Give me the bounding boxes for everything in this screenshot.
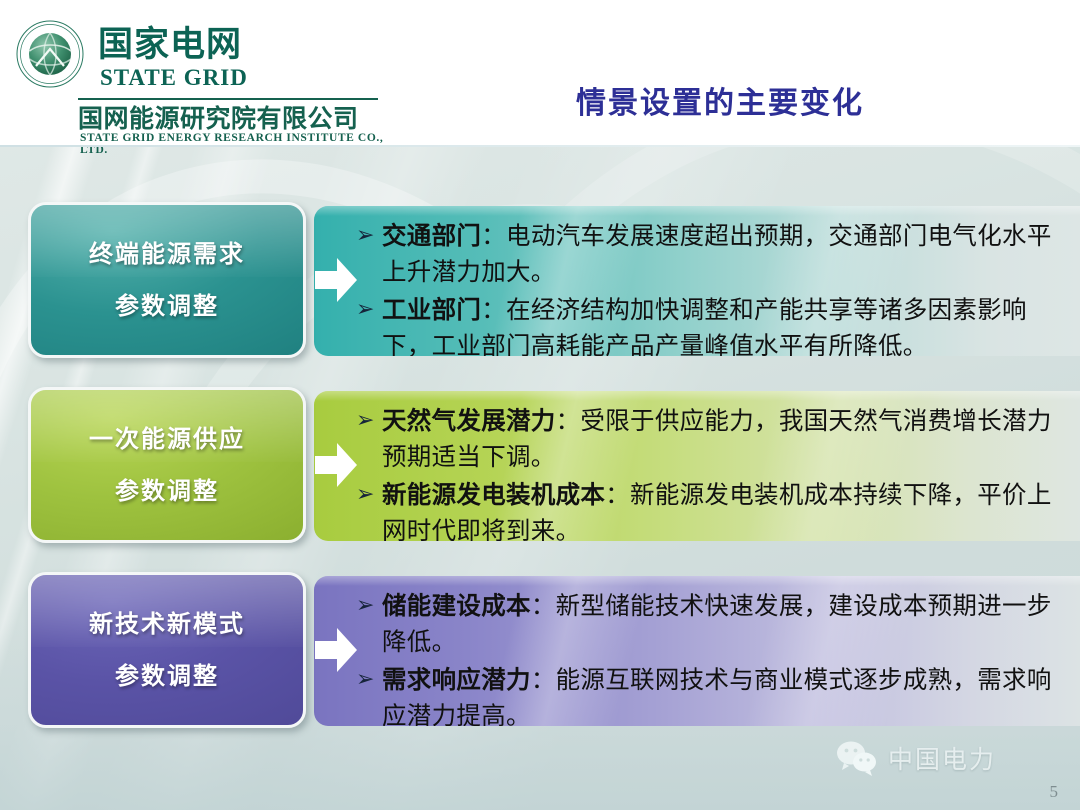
panel-highlight: [314, 391, 1080, 401]
bullet-separator: ：: [531, 591, 556, 620]
row-primary-energy-supply: ➢ 天然气发展潜力：受限于供应能力，我国天然气消费增长潜力预期适当下调。 ➢ 新…: [0, 387, 1080, 547]
bullet-separator: ：: [556, 406, 581, 435]
category-label-new-tech-new-model[interactable]: 新技术新模式 参数调整: [28, 572, 306, 728]
brand-divider: [78, 98, 378, 100]
arrow-bullet-icon: ➢: [356, 662, 382, 698]
category-label-line2: 参数调整: [115, 294, 219, 318]
page-title: 情景设置的主要变化: [380, 78, 1060, 122]
wechat-icon: [835, 740, 879, 776]
bullet-list: ➢ 交通部门：电动汽车发展速度超出预期，交通部门电气化水平上升潜力加大。 ➢ 工…: [356, 218, 1074, 350]
bullet-list: ➢ 天然气发展潜力：受限于供应能力，我国天然气消费增长潜力预期适当下调。 ➢ 新…: [356, 403, 1074, 535]
page-number: 5: [1050, 782, 1059, 802]
state-grid-globe-emblem: [14, 18, 86, 90]
category-label-primary-energy-supply[interactable]: 一次能源供应 参数调整: [28, 387, 306, 543]
watermark-label: 中国电力: [888, 740, 996, 776]
arrow-bullet-icon: ➢: [356, 292, 382, 328]
right-arrow-icon: [313, 624, 359, 676]
bullet-lead: 储能建设成本: [382, 591, 531, 620]
bullet-text: 天然气发展潜力：受限于供应能力，我国天然气消费增长潜力预期适当下调。: [382, 403, 1074, 475]
detail-panel: ➢ 天然气发展潜力：受限于供应能力，我国天然气消费增长潜力预期适当下调。 ➢ 新…: [314, 391, 1080, 541]
arrow-bullet-icon: ➢: [356, 403, 382, 439]
list-item: ➢ 天然气发展潜力：受限于供应能力，我国天然气消费增长潜力预期适当下调。: [356, 403, 1074, 475]
bullet-text: 工业部门：在经济结构加快调整和产能共享等诸多因素影响下，工业部门高耗能产品产量峰…: [382, 292, 1074, 356]
bullet-separator: ：: [605, 480, 630, 509]
bullet-separator: ：: [531, 665, 556, 694]
arrow-bullet-icon: ➢: [356, 477, 382, 513]
bullet-text: 新能源发电装机成本：新能源发电装机成本持续下降，平价上网时代即将到来。: [382, 477, 1074, 541]
bullet-text: 储能建设成本：新型储能技术快速发展，建设成本预期进一步降低。: [382, 588, 1074, 660]
company-logo: 国家电网 STATE GRID 国网能源研究院有限公司 STATE GRID E…: [14, 14, 384, 134]
arrow-bullet-icon: ➢: [356, 218, 382, 254]
bullet-lead: 天然气发展潜力: [382, 406, 556, 435]
bullet-lead: 需求响应潜力: [382, 665, 531, 694]
detail-panel: ➢ 储能建设成本：新型储能技术快速发展，建设成本预期进一步降低。 ➢ 需求响应潜…: [314, 576, 1080, 726]
right-arrow-icon: [313, 439, 359, 491]
slide-header: 国家电网 STATE GRID 国网能源研究院有限公司 STATE GRID E…: [0, 0, 1080, 147]
bullet-separator: ：: [481, 221, 506, 250]
bullet-separator: ：: [481, 295, 506, 324]
category-label-line2: 参数调整: [115, 479, 219, 503]
right-arrow-icon: [313, 254, 359, 306]
detail-panel: ➢ 交通部门：电动汽车发展速度超出预期，交通部门电气化水平上升潜力加大。 ➢ 工…: [314, 206, 1080, 356]
row-new-tech-new-model: ➢ 储能建设成本：新型储能技术快速发展，建设成本预期进一步降低。 ➢ 需求响应潜…: [0, 572, 1080, 732]
brand-name-en: STATE GRID: [100, 66, 248, 89]
brand-name-cn: 国家电网: [98, 28, 242, 63]
list-item: ➢ 交通部门：电动汽车发展速度超出预期，交通部门电气化水平上升潜力加大。: [356, 218, 1074, 290]
list-item: ➢ 储能建设成本：新型储能技术快速发展，建设成本预期进一步降低。: [356, 588, 1074, 660]
bullet-lead: 新能源发电装机成本: [382, 480, 605, 509]
bullet-lead: 工业部门: [382, 295, 481, 324]
header-divider: [0, 145, 1080, 147]
content-rows: ➢ 交通部门：电动汽车发展速度超出预期，交通部门电气化水平上升潜力加大。 ➢ 工…: [0, 147, 1080, 810]
slide-canvas: 国家电网 STATE GRID 国网能源研究院有限公司 STATE GRID E…: [0, 0, 1080, 810]
category-label-line1: 一次能源供应: [89, 427, 245, 451]
list-item: ➢ 需求响应潜力：能源互联网技术与商业模式逐步成熟，需求响应潜力提高。: [356, 662, 1074, 726]
category-label-line1: 终端能源需求: [89, 242, 245, 266]
institute-name-cn: 国网能源研究院有限公司: [78, 105, 359, 134]
list-item: ➢ 新能源发电装机成本：新能源发电装机成本持续下降，平价上网时代即将到来。: [356, 477, 1074, 541]
panel-highlight: [314, 206, 1080, 216]
bullet-lead: 交通部门: [382, 221, 481, 250]
arrow-bullet-icon: ➢: [356, 588, 382, 624]
bullet-list: ➢ 储能建设成本：新型储能技术快速发展，建设成本预期进一步降低。 ➢ 需求响应潜…: [356, 588, 1074, 720]
bullet-text: 交通部门：电动汽车发展速度超出预期，交通部门电气化水平上升潜力加大。: [382, 218, 1074, 290]
panel-highlight: [314, 576, 1080, 586]
bullet-text: 需求响应潜力：能源互联网技术与商业模式逐步成熟，需求响应潜力提高。: [382, 662, 1074, 726]
category-label-line1: 新技术新模式: [89, 612, 245, 636]
category-label-end-use-energy-demand[interactable]: 终端能源需求 参数调整: [28, 202, 306, 358]
row-end-use-energy-demand: ➢ 交通部门：电动汽车发展速度超出预期，交通部门电气化水平上升潜力加大。 ➢ 工…: [0, 202, 1080, 362]
list-item: ➢ 工业部门：在经济结构加快调整和产能共享等诸多因素影响下，工业部门高耗能产品产…: [356, 292, 1074, 356]
wechat-watermark: 中国电力: [835, 740, 996, 776]
category-label-line2: 参数调整: [115, 664, 219, 688]
